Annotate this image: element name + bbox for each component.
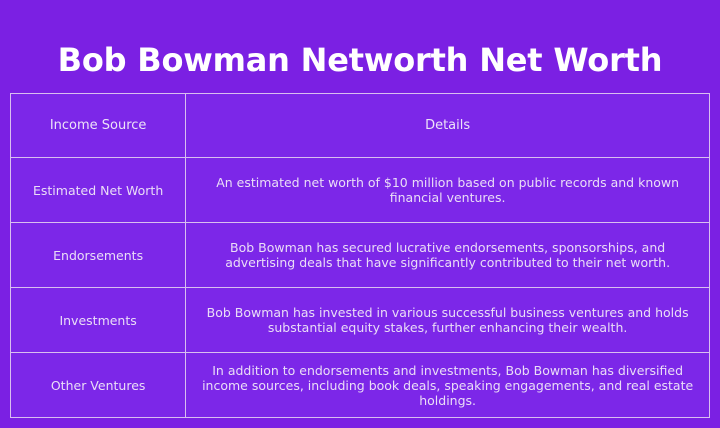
- row-label-other-ventures: Other Ventures: [11, 353, 186, 418]
- page-root: Bob Bowman Networth Net Worth Income Sou…: [0, 0, 720, 428]
- table-header-row: Income Source Details: [11, 94, 710, 158]
- row-details-investments: Bob Bowman has invested in various succe…: [186, 288, 710, 353]
- page-title: Bob Bowman Networth Net Worth: [0, 40, 720, 80]
- table-body: Estimated Net Worth An estimated net wor…: [11, 158, 710, 418]
- table-row: Estimated Net Worth An estimated net wor…: [11, 158, 710, 223]
- column-header-income-source: Income Source: [11, 94, 186, 158]
- row-label-investments: Investments: [11, 288, 186, 353]
- row-label-estimated-net-worth: Estimated Net Worth: [11, 158, 186, 223]
- row-details-estimated-net-worth: An estimated net worth of $10 million ba…: [186, 158, 710, 223]
- table-row: Investments Bob Bowman has invested in v…: [11, 288, 710, 353]
- table-row: Endorsements Bob Bowman has secured lucr…: [11, 223, 710, 288]
- row-details-other-ventures: In addition to endorsements and investme…: [186, 353, 710, 418]
- networth-table: Income Source Details Estimated Net Wort…: [10, 93, 710, 418]
- table-header: Income Source Details: [11, 94, 710, 158]
- row-details-endorsements: Bob Bowman has secured lucrative endorse…: [186, 223, 710, 288]
- row-label-endorsements: Endorsements: [11, 223, 186, 288]
- table-row: Other Ventures In addition to endorsemen…: [11, 353, 710, 418]
- column-header-details: Details: [186, 94, 710, 158]
